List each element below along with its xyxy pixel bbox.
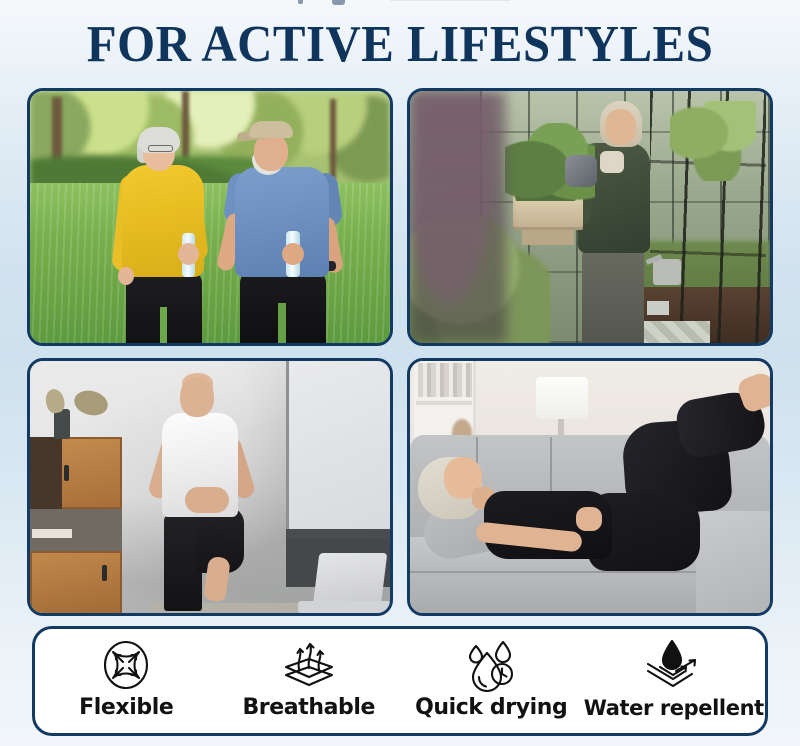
feature-label-flexible: Flexible: [79, 694, 173, 722]
photo-card-greenhouse-gardening[interactable]: [407, 88, 773, 346]
feature-item-water-repellent[interactable]: Water repellent: [583, 629, 766, 733]
feature-label-water-repellent: Water repellent: [584, 694, 764, 722]
breathable-layers-icon: [278, 636, 340, 694]
feature-item-flexible[interactable]: Flexible: [35, 629, 218, 733]
photo-sofa-relaxing: [410, 361, 770, 613]
photo-greenhouse-gardening: [410, 91, 770, 343]
photo-card-park-walk[interactable]: [27, 88, 393, 346]
flexible-fabric-icon: [98, 636, 154, 694]
page-title: FOR ACTIVE LIFESTYLES: [24, 16, 776, 74]
photo-card-indoor-stretching[interactable]: [27, 358, 393, 616]
feature-bar: Flexible Breathable Quick dryin: [32, 626, 768, 736]
feature-item-breathable[interactable]: Breathable: [218, 629, 401, 733]
photo-card-sofa-relaxing[interactable]: [407, 358, 773, 616]
feature-label-breathable: Breathable: [242, 694, 375, 722]
cropped-text-artifact: [250, 0, 550, 7]
feature-label-quick-drying: Quick drying: [415, 694, 567, 722]
photo-gallery: [27, 88, 773, 616]
feature-item-quick-drying[interactable]: Quick drying: [400, 629, 583, 733]
photo-indoor-stretching: [30, 361, 390, 613]
water-repellent-droplet-icon: [642, 636, 706, 694]
photo-park-walk: [30, 91, 390, 343]
quick-drying-droplet-clock-icon: [462, 636, 520, 694]
